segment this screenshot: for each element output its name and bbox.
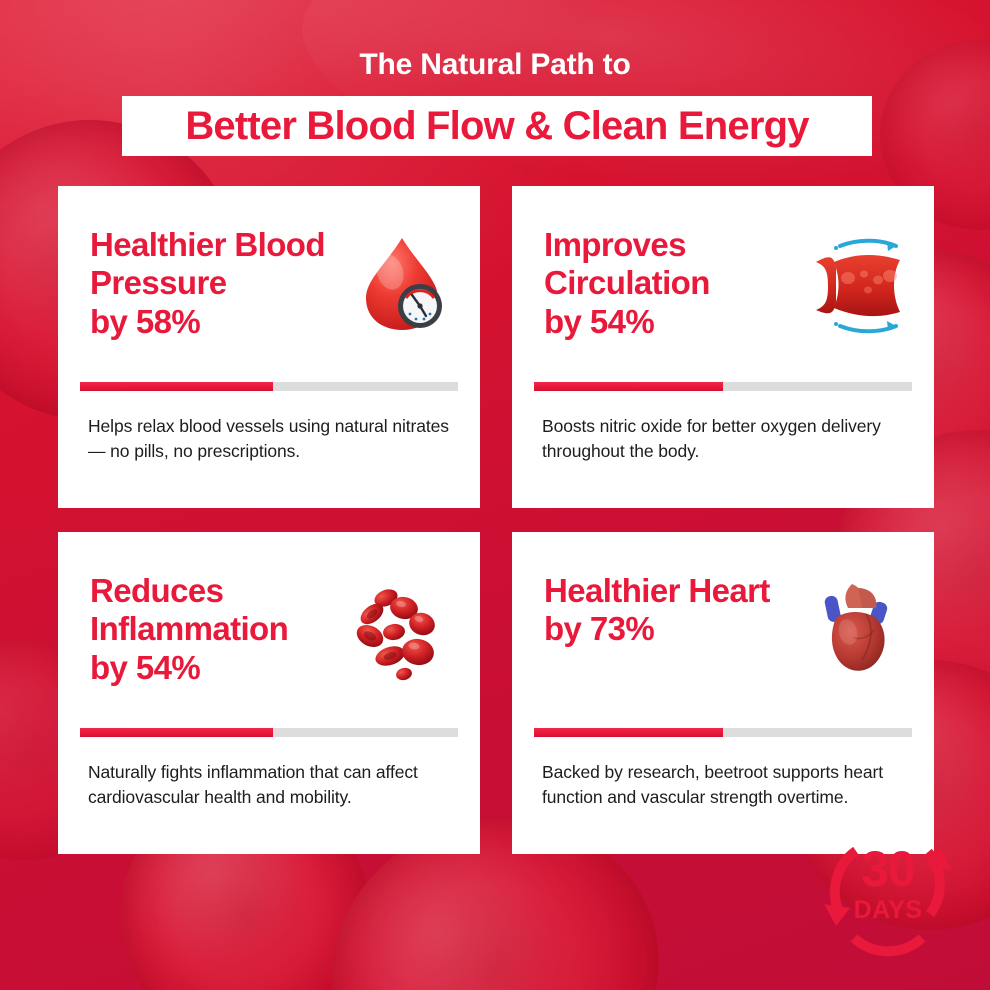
benefit-card-circulation: Improves Circulation by 54% — [512, 186, 934, 508]
card-stat: by 58% — [90, 303, 346, 341]
card-description: Backed by research, beetroot supports he… — [542, 760, 910, 810]
card-title-line1: Healthier — [90, 226, 226, 263]
anatomical-heart-icon — [800, 574, 912, 686]
card-header: Healthier Heart by 73% — [512, 532, 934, 682]
progress-bar-fill — [80, 728, 273, 737]
benefit-card-blood-pressure: Healthier Blood Pressure by 58% — [58, 186, 480, 508]
card-stat: by 54% — [90, 649, 346, 687]
benefit-card-grid: Healthier Blood Pressure by 58% — [58, 186, 934, 854]
card-header: Improves Circulation by 54% — [512, 186, 934, 336]
card-header: Reduces Inflammation by 54% — [58, 532, 480, 682]
page-title: Better Blood Flow & Clean Energy — [185, 104, 808, 149]
red-blood-cells-icon — [346, 574, 458, 686]
card-title: Healthier Heart by 73% — [544, 572, 770, 649]
progress-bar-track — [80, 382, 458, 391]
card-title: Improves Circulation by 54% — [544, 226, 800, 341]
blood-drop-gauge-icon — [346, 228, 458, 340]
badge-label: DAYS — [810, 898, 966, 923]
progress-bar-fill — [80, 382, 273, 391]
progress-bar-fill — [534, 728, 723, 737]
thirty-days-badge: 30 DAYS — [810, 818, 966, 968]
header-kicker: The Natural Path to — [0, 48, 990, 82]
card-title: Healthier Blood Pressure by 58% — [90, 226, 346, 341]
infographic-poster: The Natural Path to Better Blood Flow & … — [0, 0, 990, 990]
card-title: Reduces Inflammation by 54% — [90, 572, 346, 687]
benefit-card-inflammation: Reduces Inflammation by 54% — [58, 532, 480, 854]
card-title-line2: Heart — [688, 572, 769, 609]
card-stat: by 54% — [544, 303, 800, 341]
badge-number: 30 — [810, 844, 966, 894]
progress-bar-fill — [534, 382, 723, 391]
card-description: Naturally fights inflammation that can a… — [88, 760, 456, 810]
card-description: Boosts nitric oxide for better oxygen de… — [542, 414, 910, 464]
card-description: Helps relax blood vessels using natural … — [88, 414, 456, 464]
benefit-card-heart: Healthier Heart by 73% — [512, 532, 934, 854]
card-title-line2: Inflammation — [90, 610, 288, 647]
card-stat: by 73% — [544, 610, 770, 648]
progress-bar-track — [534, 728, 912, 737]
card-title-line1: Healthier — [544, 572, 680, 609]
progress-bar-track — [80, 728, 458, 737]
card-title-line1: Reduces — [90, 572, 223, 609]
progress-bar-track — [534, 382, 912, 391]
card-title-line1: Improves — [544, 226, 686, 263]
header-title-band: Better Blood Flow & Clean Energy — [122, 96, 872, 156]
card-header: Healthier Blood Pressure by 58% — [58, 186, 480, 336]
card-title-line2: Circulation — [544, 264, 710, 301]
blood-vessel-flow-icon — [800, 228, 912, 340]
